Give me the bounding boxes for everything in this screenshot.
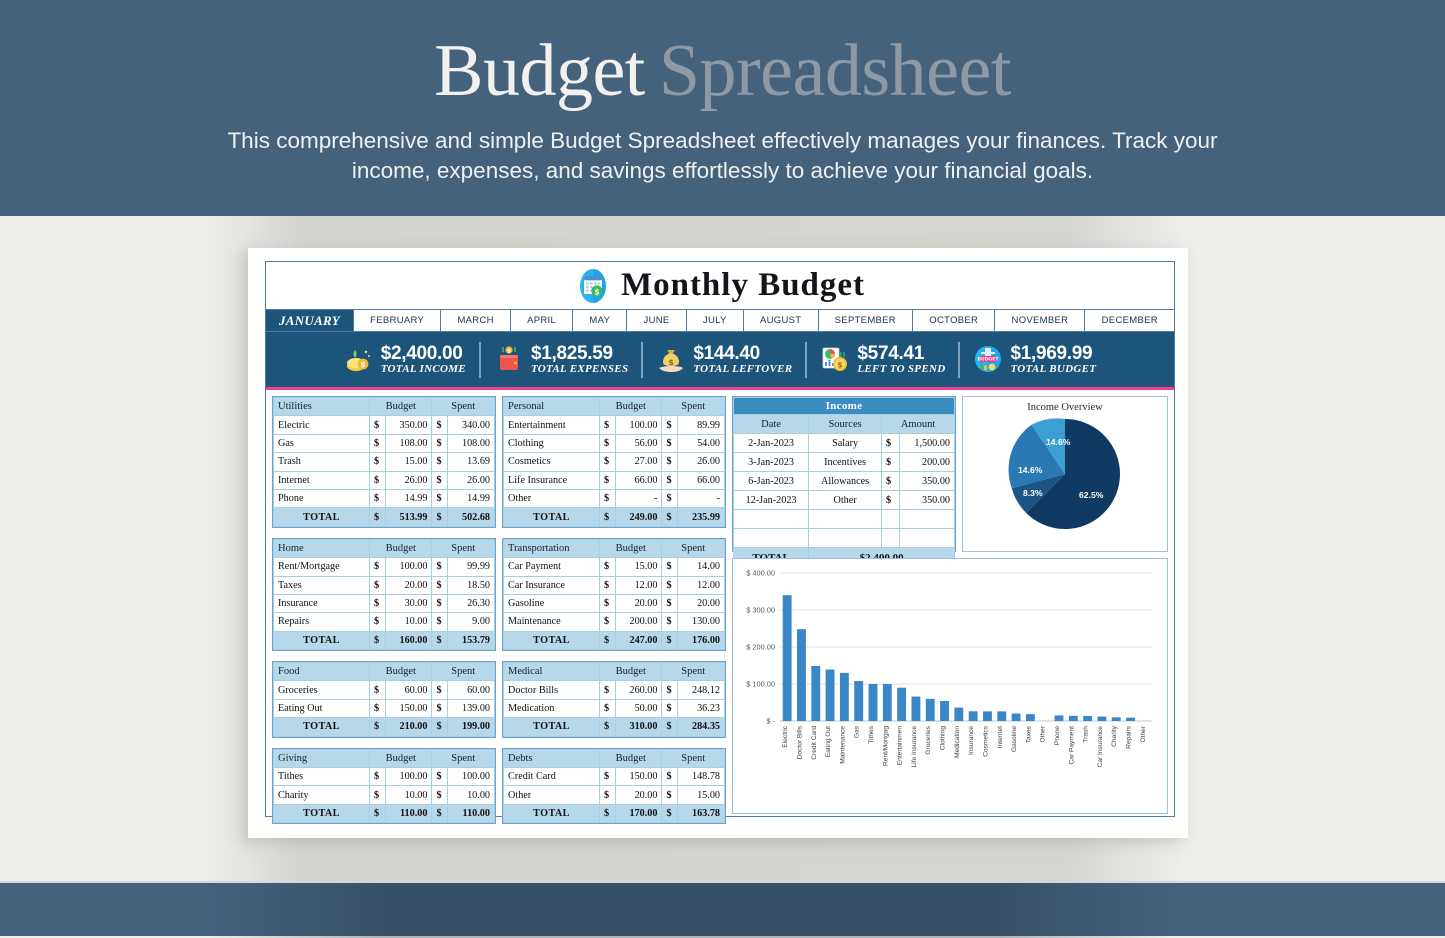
table-row[interactable]: Electric$350.00$340.00	[274, 416, 495, 434]
page-title-primary: Budget	[434, 30, 645, 112]
x-axis-tick-label: Other	[1040, 725, 1047, 742]
table-row[interactable]: Credit Card$150.00$148.78	[504, 768, 725, 786]
pie-chart-title: Income Overview	[963, 397, 1167, 413]
spreadsheet-body: Utilities Budget Spent Electric$350.00$3…	[266, 390, 1174, 814]
col-header-budget: Budget	[369, 663, 432, 681]
x-axis-tick-label: Entertainmen	[897, 726, 904, 766]
kpi-total-expenses: $ $1,825.59 TOTAL EXPENSES	[494, 344, 628, 375]
table-income: Income Date Sources Amount 2-Jan-2023Sal…	[732, 396, 956, 552]
x-axis-tick-label: Electric	[782, 725, 789, 747]
x-axis-tick-label: Phone	[1054, 726, 1061, 745]
table-row[interactable]: Trash$15.00$13.69	[274, 453, 495, 471]
table-row[interactable]: Eating Out$150.00$139.00	[274, 699, 495, 717]
summary-banner: $ $2,400.00 TOTAL INCOME $	[266, 332, 1174, 390]
x-axis-tick-label: Doctor Bills	[796, 725, 803, 759]
x-axis-tick-label: Repairs	[1126, 725, 1133, 748]
bar	[1083, 716, 1092, 721]
month-tab-april[interactable]: APRIL	[511, 310, 573, 331]
col-header-spent: Spent	[432, 749, 495, 767]
col-header-category: Medical	[504, 663, 600, 681]
col-header-category: Personal	[504, 398, 600, 416]
table-row[interactable]: Medication$50.00$36.23	[504, 699, 725, 717]
page-footer-band	[0, 881, 1445, 936]
table-row[interactable]: Phone$14.99$14.99	[274, 489, 495, 507]
table-row[interactable]: Entertainment$100.00$89.99	[504, 416, 725, 434]
table-row[interactable]: 2-Jan-2023Salary$1,500.00	[734, 434, 955, 453]
income-overview-chart: Income Overview 62.5%	[962, 396, 1168, 552]
table-row[interactable]: Taxes$20.00$18.50	[274, 576, 495, 594]
table-row[interactable]: Groceries$60.00$60.00	[274, 681, 495, 699]
bar	[926, 699, 935, 721]
col-header-category: Food	[274, 663, 370, 681]
x-axis-tick-label: Other	[1140, 725, 1147, 742]
table-row[interactable]: Charity$10.00$10.00	[274, 786, 495, 804]
y-axis-tick-label: $ -	[766, 717, 775, 726]
month-tab-october[interactable]: OCTOBER	[913, 310, 995, 331]
x-axis-tick-label: Gas	[854, 725, 861, 738]
x-axis-tick-label: Groceries	[925, 725, 932, 754]
col-header-budget: Budget	[369, 539, 432, 557]
chart-coin-icon: $	[820, 344, 850, 374]
kpi-divider	[805, 342, 807, 378]
col-header-spent: Spent	[432, 539, 495, 557]
x-axis-tick-label: Tithes	[868, 725, 875, 743]
pie-chart: 62.5% 8.3% 14.6% 14.6%	[1006, 415, 1124, 533]
kpi-total-expenses-label: TOTAL EXPENSES	[531, 364, 628, 376]
x-axis-tick-label: Internet	[997, 726, 1004, 749]
svg-text:$: $	[594, 287, 600, 296]
kpi-total-expenses-value: $1,825.59	[531, 344, 628, 364]
bar	[797, 629, 806, 721]
bar	[1069, 716, 1078, 721]
budget-spreadsheet: $ Monthly Budget JANUARY FEBRUARY MARCH …	[265, 261, 1175, 817]
month-tab-february[interactable]: FEBRUARY	[354, 310, 441, 331]
svg-text:$: $	[669, 358, 675, 367]
table-row[interactable]: Maintenance$200.00$130.00	[504, 613, 725, 631]
month-tab-bar[interactable]: JANUARY FEBRUARY MARCH APRIL MAY JUNE JU…	[266, 310, 1174, 332]
x-axis-tick-label: Insurance	[968, 726, 975, 755]
expenses-bar-chart: $ -$ 100.00$ 200.00$ 300.00$ 400.00Elect…	[732, 558, 1168, 814]
col-header-category: Utilities	[274, 398, 370, 416]
bar	[783, 595, 792, 721]
kpi-total-budget: BUDGET $1,969.99 TOTAL BUDGET	[973, 344, 1096, 375]
kpi-divider	[479, 342, 481, 378]
month-tab-may[interactable]: MAY	[573, 310, 627, 331]
table-total-row: TOTAL$170.00$163.78	[504, 804, 725, 822]
x-axis-tick-label: Trash	[1083, 726, 1090, 743]
kpi-left-to-spend: $ $574.41 LEFT TO SPEND	[820, 344, 945, 375]
col-header-spent: Spent	[432, 663, 495, 681]
bar	[969, 711, 978, 721]
svg-text:$: $	[507, 349, 511, 355]
table-medical: Medical Budget Spent Doctor Bills$260.00…	[502, 661, 726, 738]
svg-text:$: $	[360, 361, 365, 369]
kpi-left-to-spend-value: $574.41	[857, 344, 945, 364]
table-row[interactable]: Car Insurance$12.00$12.00	[504, 576, 725, 594]
x-axis-tick-label: Credit Card	[811, 726, 818, 760]
column-middle: Personal Budget Spent Entertainment$100.…	[502, 396, 726, 808]
wallet-icon: $	[494, 344, 524, 374]
table-row[interactable]: Doctor Bills$260.00$248.12	[504, 681, 725, 699]
pie-label-allowances: 14.6%	[1018, 465, 1042, 475]
table-total-row: TOTAL$160.00$153.79	[274, 631, 495, 649]
calendar-money-icon: $	[575, 268, 611, 304]
table-total-row: TOTAL$110.00$110.00	[274, 804, 495, 822]
bar	[1112, 717, 1121, 721]
month-tab-july[interactable]: JULY	[687, 310, 744, 331]
table-row-empty[interactable]	[734, 529, 955, 548]
x-axis-tick-label: Charity	[1111, 725, 1118, 747]
pie-label-salary: 62.5%	[1079, 490, 1103, 500]
bar	[840, 673, 849, 721]
col-header-spent: Spent	[662, 539, 725, 557]
x-axis-tick-label: Eating Out	[825, 726, 832, 757]
column-right: Income Date Sources Amount 2-Jan-2023Sal…	[732, 396, 1168, 808]
pie-label-incentives: 8.3%	[1023, 488, 1043, 498]
table-row[interactable]: Internet$26.00$26.00	[274, 471, 495, 489]
bar	[983, 711, 992, 721]
page-title: BudgetSpreadsheet	[0, 0, 1445, 114]
month-tab-december[interactable]: DECEMBER	[1085, 310, 1174, 331]
table-total-row: TOTAL$249.00$235.99	[504, 508, 725, 526]
page-subtitle: This comprehensive and simple Budget Spr…	[193, 126, 1253, 186]
bar	[869, 684, 878, 721]
bar	[1026, 714, 1035, 721]
month-tab-august[interactable]: AUGUST	[744, 310, 819, 331]
table-total-row: TOTAL$310.00$284.35	[504, 718, 725, 736]
x-axis-tick-label: Car Payment	[1068, 726, 1075, 765]
kpi-total-budget-label: TOTAL BUDGET	[1010, 364, 1096, 376]
kpi-total-income-value: $2,400.00	[381, 344, 466, 364]
kpi-total-leftover-label: TOTAL LEFTOVER	[693, 364, 792, 376]
page-title-secondary: Spreadsheet	[659, 30, 1011, 112]
table-personal: Personal Budget Spent Entertainment$100.…	[502, 396, 726, 528]
col-header-budget: Budget	[599, 749, 662, 767]
page-header-banner: BudgetSpreadsheet This comprehensive and…	[0, 0, 1445, 216]
bar	[940, 701, 949, 721]
month-tab-november[interactable]: NOVEMBER	[995, 310, 1085, 331]
table-total-row: TOTAL$247.00$176.00	[504, 631, 725, 649]
x-axis-tick-label: Taxes	[1025, 725, 1032, 743]
table-food: Food Budget Spent Groceries$60.00$60.00 …	[272, 661, 496, 738]
bar	[897, 688, 906, 721]
bar	[826, 670, 835, 721]
table-row[interactable]: Other$20.00$15.00	[504, 786, 725, 804]
bar	[811, 666, 820, 721]
bar	[854, 681, 863, 721]
kpi-total-income: $ $2,400.00 TOTAL INCOME	[344, 344, 466, 375]
table-row[interactable]: Rent/Mortgage$100.00$99.99	[274, 558, 495, 576]
table-utilities: Utilities Budget Spent Electric$350.00$3…	[272, 396, 496, 528]
x-axis-tick-label: Gasoline	[1011, 726, 1018, 752]
x-axis-tick-label: Maintenance	[839, 726, 846, 764]
bar	[911, 697, 920, 721]
table-transportation: Transportation Budget Spent Car Payment$…	[502, 538, 726, 651]
bar	[883, 684, 892, 721]
x-axis-tick-label: Medication	[954, 726, 961, 758]
table-row[interactable]: Gas$108.00$108.00	[274, 434, 495, 452]
money-bag-hand-icon: $	[656, 344, 686, 374]
col-header-date: Date	[734, 415, 809, 434]
x-axis-tick-label: Car Insurance	[1097, 726, 1104, 768]
pie-label-other: 14.6%	[1046, 437, 1070, 447]
col-header-budget: Budget	[599, 663, 662, 681]
table-row-empty[interactable]	[734, 510, 955, 529]
svg-text:$: $	[838, 361, 844, 370]
month-tab-march[interactable]: MARCH	[441, 310, 511, 331]
table-total-row: TOTAL$210.00$199.00	[274, 718, 495, 736]
col-header-spent: Spent	[662, 663, 725, 681]
col-header-category: Transportation	[504, 539, 600, 557]
table-row[interactable]: 12-Jan-2023Other$350.00	[734, 491, 955, 510]
col-header-budget: Budget	[599, 539, 662, 557]
col-header-amount: Amount	[882, 415, 955, 434]
col-header-budget: Budget	[599, 398, 662, 416]
table-row[interactable]: 3-Jan-2023Incentives$200.00	[734, 453, 955, 472]
month-tab-june[interactable]: JUNE	[627, 310, 686, 331]
column-left: Utilities Budget Spent Electric$350.00$3…	[272, 396, 496, 808]
x-axis-tick-label: Life Insurance	[911, 726, 918, 768]
table-row[interactable]: Repairs$10.00$9.00	[274, 613, 495, 631]
table-row[interactable]: Clothing$56.00$54.00	[504, 434, 725, 452]
y-axis-tick-label: $ 100.00	[746, 680, 775, 689]
col-header-category: Giving	[274, 749, 370, 767]
col-header-category: Home	[274, 539, 370, 557]
svg-text:BUDGET: BUDGET	[978, 357, 1000, 363]
bar	[1097, 717, 1106, 721]
table-row[interactable]: Insurance$30.00$26.30	[274, 594, 495, 612]
table-row[interactable]: Other$-$-	[504, 489, 725, 507]
spreadsheet-title: Monthly Budget	[621, 267, 865, 304]
table-row[interactable]: Tithes$100.00$100.00	[274, 768, 495, 786]
table-giving: Giving Budget Spent Tithes$100.00$100.00…	[272, 748, 496, 825]
col-header-category: Debts	[504, 749, 600, 767]
kpi-left-to-spend-label: LEFT TO SPEND	[857, 364, 945, 376]
col-header-spent: Spent	[662, 398, 725, 416]
kpi-divider	[958, 342, 960, 378]
col-header-budget: Budget	[369, 749, 432, 767]
col-header-spent: Spent	[432, 398, 495, 416]
bar	[1055, 715, 1064, 721]
kpi-total-budget-value: $1,969.99	[1010, 344, 1096, 364]
kpi-divider	[641, 342, 643, 378]
col-header-budget: Budget	[369, 398, 432, 416]
month-tab-january[interactable]: JANUARY	[266, 310, 354, 331]
budget-badge-icon: BUDGET	[973, 344, 1003, 374]
spreadsheet-title-bar: $ Monthly Budget	[266, 262, 1174, 310]
kpi-total-leftover-value: $144.40	[693, 344, 792, 364]
y-axis-tick-label: $ 200.00	[746, 643, 775, 652]
kpi-total-income-label: TOTAL INCOME	[381, 364, 466, 376]
table-debts: Debts Budget Spent Credit Card$150.00$14…	[502, 748, 726, 825]
x-axis-tick-label: Cosmetics	[982, 725, 989, 756]
table-row[interactable]: Cosmetics$27.00$26.00	[504, 453, 725, 471]
x-axis-tick-label: Rent/Mortgag	[882, 726, 889, 766]
table-row[interactable]: Life Insurance$66.00$66.00	[504, 471, 725, 489]
month-tab-september[interactable]: SEPTEMBER	[819, 310, 914, 331]
table-row[interactable]: Car Payment$15.00$14.00	[504, 558, 725, 576]
table-row[interactable]: Gasoline$20.00$20.00	[504, 594, 725, 612]
income-table-title: Income	[734, 398, 955, 415]
col-header-spent: Spent	[662, 749, 725, 767]
table-row[interactable]: 6-Jan-2023Allowances$350.00	[734, 472, 955, 491]
bar	[1126, 718, 1135, 721]
bar	[997, 711, 1006, 721]
y-axis-tick-label: $ 300.00	[746, 606, 775, 615]
table-home: Home Budget Spent Rent/Mortgage$100.00$9…	[272, 538, 496, 651]
bar	[1012, 714, 1021, 721]
x-axis-tick-label: Clothing	[940, 726, 947, 751]
y-axis-tick-label: $ 400.00	[746, 569, 775, 578]
coins-plant-icon: $	[344, 344, 374, 374]
col-header-sources: Sources	[809, 415, 882, 434]
kpi-total-leftover: $ $144.40 TOTAL LEFTOVER	[656, 344, 792, 375]
table-total-row: TOTAL$513.99$502.68	[274, 508, 495, 526]
bar	[954, 708, 963, 721]
